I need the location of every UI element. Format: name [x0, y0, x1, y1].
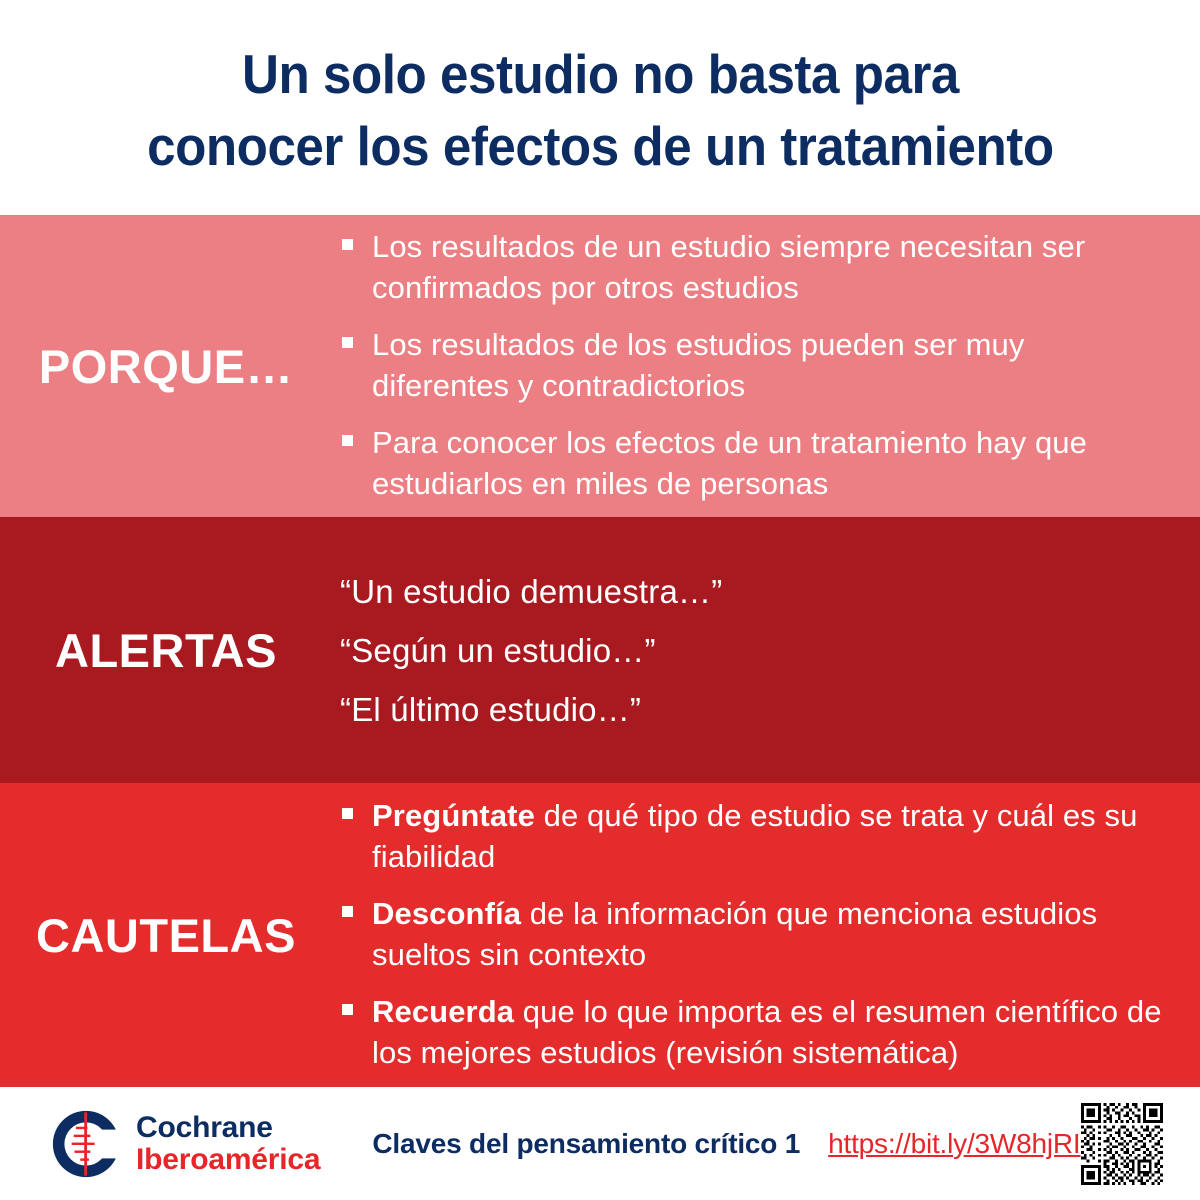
section-label-alertas: ALERTAS [0, 627, 340, 674]
title-line-1: Un solo estudio no basta para [242, 39, 959, 111]
bitly-url-link[interactable]: https://bit.ly/3W8hjRI [828, 1128, 1080, 1160]
list-item-lead: Recuerda [372, 994, 514, 1029]
list-item: Los resultados de los estudios pueden se… [340, 325, 1164, 407]
list-item-lead: Desconfía [372, 896, 521, 931]
square-bullet-icon [342, 1004, 353, 1015]
title-line-2: conocer los efectos de un tratamiento [147, 111, 1054, 183]
series-label: Claves del pensamiento crítico 1 [372, 1128, 800, 1160]
list-item-text: Los resultados de los estudios pueden se… [372, 327, 1024, 403]
section-porque: PORQUE… Los resultados de un estudio sie… [0, 215, 1200, 517]
quote-list-alertas: “Un estudio demuestra…” “Según un estudi… [340, 575, 1164, 726]
list-item: “El último estudio…” [340, 693, 1164, 726]
square-bullet-icon [342, 906, 353, 917]
square-bullet-icon [342, 808, 353, 819]
cochrane-ring-icon [50, 1108, 122, 1180]
logo-name-iberoamerica: Iberoamérica [136, 1144, 320, 1175]
section-body-porque: Los resultados de un estudio siempre nec… [340, 227, 1200, 504]
qr-code-icon[interactable] [1081, 1103, 1163, 1185]
section-body-cautelas: Pregúntate de qué tipo de estudio se tra… [340, 796, 1200, 1073]
list-item: “Según un estudio…” [340, 634, 1164, 667]
square-bullet-icon [342, 239, 353, 250]
bullet-list-porque: Los resultados de un estudio siempre nec… [340, 227, 1164, 504]
list-item: “Un estudio demuestra…” [340, 575, 1164, 608]
logo-name-cochrane: Cochrane [136, 1112, 320, 1143]
section-body-alertas: “Un estudio demuestra…” “Según un estudi… [340, 575, 1200, 726]
footer: Cochrane Iberoamérica Claves del pensami… [0, 1087, 1200, 1200]
cochrane-logo-wordmark: Cochrane Iberoamérica [136, 1112, 320, 1174]
section-label-cautelas: CAUTELAS [0, 912, 340, 959]
list-item: Pregúntate de qué tipo de estudio se tra… [340, 796, 1164, 878]
list-item: Desconfía de la información que menciona… [340, 894, 1164, 976]
list-item: Los resultados de un estudio siempre nec… [340, 227, 1164, 309]
bullet-list-cautelas: Pregúntate de qué tipo de estudio se tra… [340, 796, 1164, 1073]
section-label-porque: PORQUE… [0, 343, 340, 390]
list-item: Para conocer los efectos de un tratamien… [340, 423, 1164, 505]
square-bullet-icon [342, 435, 353, 446]
list-item: Recuerda que lo que importa es el resume… [340, 992, 1164, 1074]
infographic-page: Un solo estudio no basta para conocer lo… [0, 0, 1200, 1200]
list-item-text: Los resultados de un estudio siempre nec… [372, 229, 1085, 305]
list-item-text: Para conocer los efectos de un tratamien… [372, 425, 1087, 501]
square-bullet-icon [342, 337, 353, 348]
list-item-lead: Pregúntate [372, 798, 535, 833]
section-alertas: ALERTAS “Un estudio demuestra…” “Según u… [0, 517, 1200, 783]
page-title: Un solo estudio no basta para conocer lo… [0, 0, 1200, 215]
cochrane-logo: Cochrane Iberoamérica [50, 1108, 320, 1180]
section-cautelas: CAUTELAS Pregúntate de qué tipo de estud… [0, 783, 1200, 1087]
